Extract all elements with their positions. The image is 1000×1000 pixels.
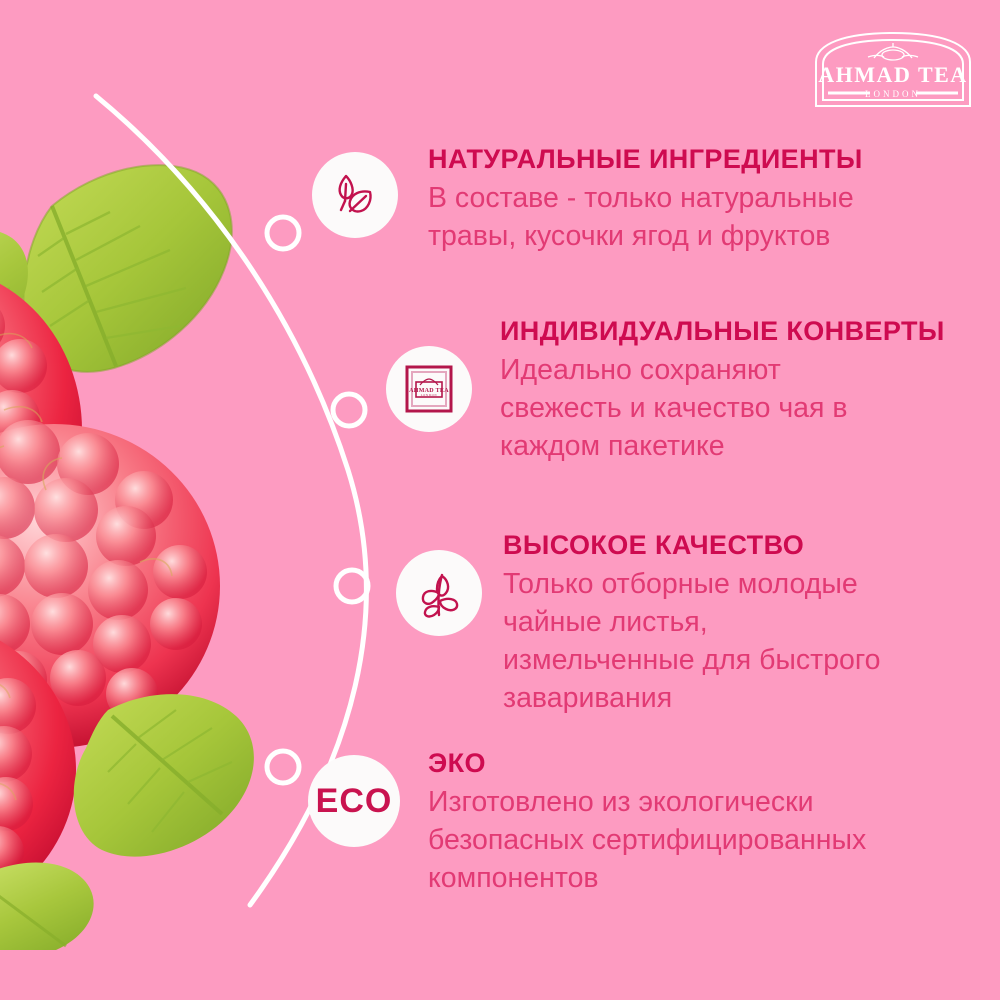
feature-body: Идеально сохраняют свежесть и качество ч… (500, 352, 945, 466)
feature-body: Только отборные молодые чайные листья, и… (503, 566, 881, 718)
raspberry-leaf (0, 862, 94, 950)
feature-text-eco: ЭКО Изготовлено из экологически безопасн… (428, 748, 866, 898)
tea-sprig-icon (396, 550, 482, 636)
raspberry-berry (0, 266, 82, 594)
raspberry-leaf (74, 694, 254, 857)
arc-marker-1 (267, 217, 299, 249)
feature-body: Изготовлено из экологически безопасных с… (428, 784, 866, 898)
eco-badge-icon: ECO (308, 755, 400, 847)
ahmad-tea-logo: AHMAD TEA LONDON (812, 28, 974, 110)
raspberry-leaf (23, 165, 231, 372)
feature-heading: ВЫСОКОЕ КАЧЕСТВО (503, 530, 881, 562)
two-leaves-icon (312, 152, 398, 238)
arc-marker-4 (267, 751, 299, 783)
sachet-london-text: LONDON (421, 394, 438, 397)
feature-text-natural-ingredients: НАТУРАЛЬНЫЕ ИНГРЕДИЕНТЫ В составе - толь… (428, 144, 863, 256)
arc-marker-2 (333, 394, 365, 426)
logo-brand-text: AHMAD TEA (818, 62, 967, 87)
tea-sachet-envelope-icon: AHMAD TEA LONDON (386, 346, 472, 432)
feature-heading: ИНДИВИДУАЛЬНЫЕ КОНВЕРТЫ (500, 316, 945, 348)
promo-poster: AHMAD TEA LONDON НАТУРАЛЬНЫЕ ИНГРЕДИЕНТЫ… (0, 0, 1000, 1000)
feature-body: В составе - только натуральные травы, ку… (428, 180, 863, 256)
feature-text-high-quality: ВЫСОКОЕ КАЧЕСТВО Только отборные молодые… (503, 530, 881, 717)
feature-heading: ЭКО (428, 748, 866, 780)
arc-marker-3 (336, 570, 368, 602)
feature-text-individual-envelopes: ИНДИВИДУАЛЬНЫЕ КОНВЕРТЫ Идеально сохраня… (500, 316, 945, 466)
logo-london-text: LONDON (865, 89, 921, 99)
raspberries-artwork (0, 110, 360, 950)
raspberry-leaf (0, 229, 28, 360)
eco-label: ECO (316, 782, 393, 821)
raspberry-berry (0, 420, 220, 748)
raspberry-berry (0, 618, 76, 922)
feature-heading: НАТУРАЛЬНЫЕ ИНГРЕДИЕНТЫ (428, 144, 863, 176)
